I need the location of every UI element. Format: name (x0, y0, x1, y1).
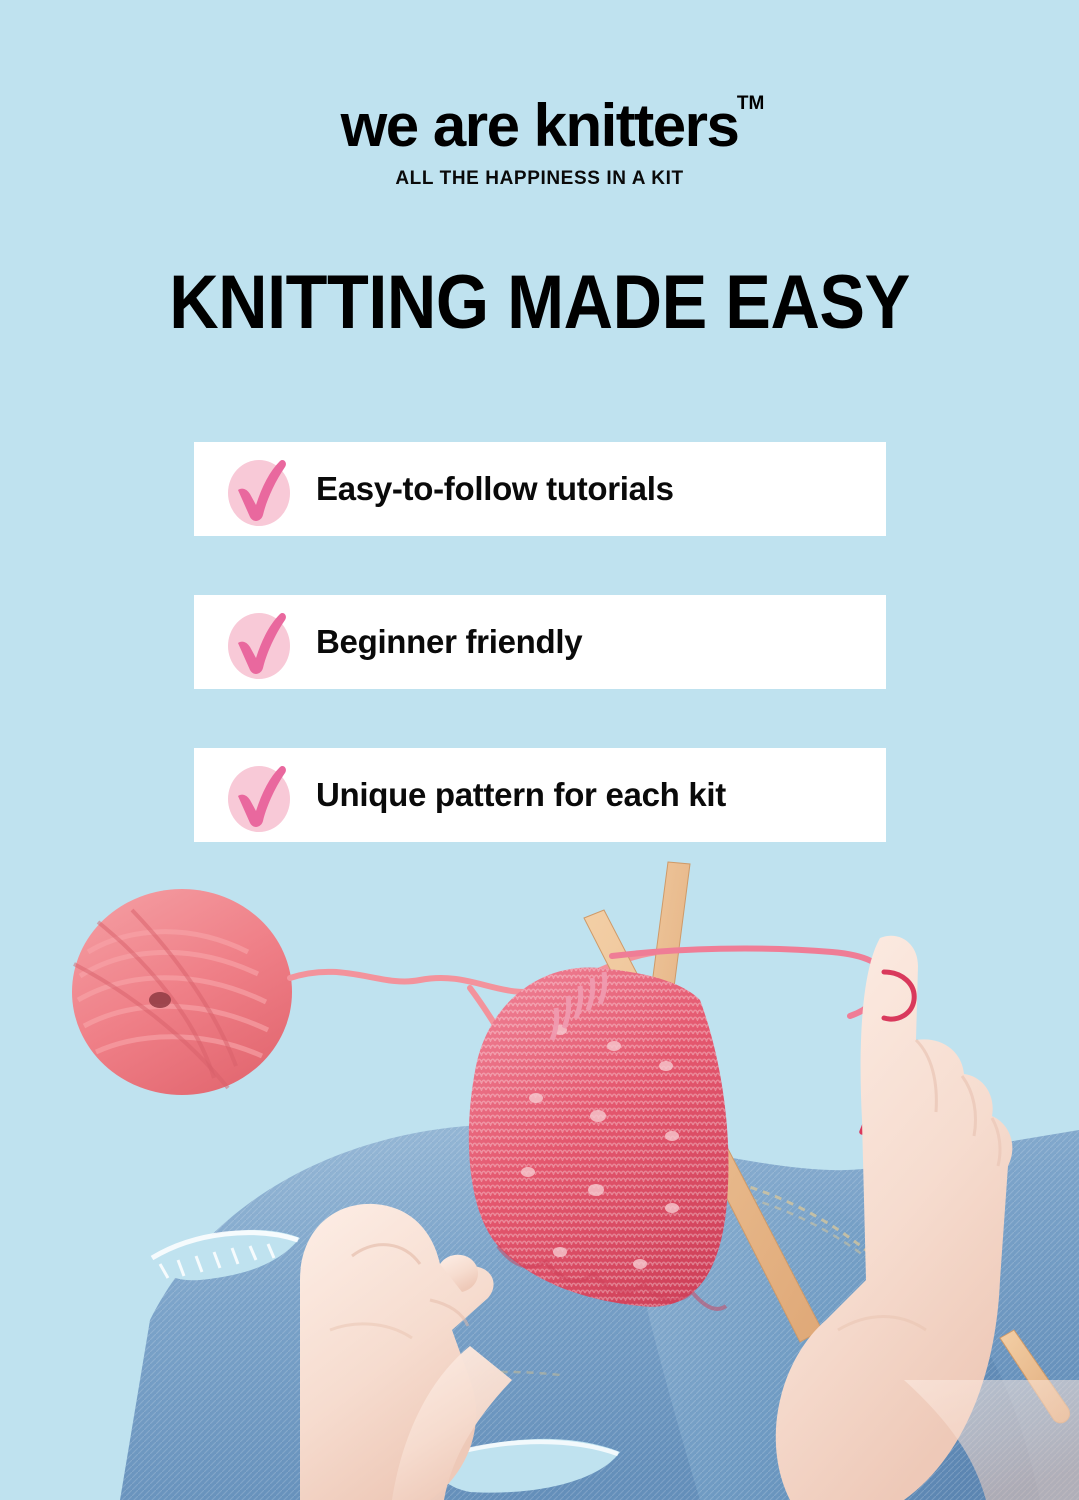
brand-wordmark: we are knittersTM (341, 96, 739, 156)
check-icon-mark (222, 603, 296, 681)
trademark-symbol: TM (737, 94, 764, 113)
poster: we are knittersTM ALL THE HAPPINESS IN A… (0, 0, 1079, 1500)
feature-label: Unique pattern for each kit (316, 776, 726, 814)
feature-card: Beginner friendly (194, 595, 886, 689)
feature-list: Easy-to-follow tutorials Beginner friend… (194, 442, 886, 901)
page-title: KNITTING MADE EASY (54, 265, 1025, 341)
brand-wordmark-text: we are knitters (341, 92, 739, 159)
hero-photo (0, 860, 1079, 1500)
feature-label: Beginner friendly (316, 623, 582, 661)
hero-photo-graphic (0, 860, 1079, 1500)
brand-block: we are knittersTM ALL THE HAPPINESS IN A… (0, 96, 1079, 190)
knitted-swatch (469, 967, 729, 1308)
check-icon-mark (222, 450, 296, 528)
feature-label: Easy-to-follow tutorials (316, 470, 674, 508)
brand-tagline: ALL THE HAPPINESS IN A KIT (0, 168, 1079, 190)
check-icon (222, 603, 296, 681)
check-icon (222, 756, 296, 834)
check-icon (222, 450, 296, 528)
feature-card: Unique pattern for each kit (194, 748, 886, 842)
feature-card: Easy-to-follow tutorials (194, 442, 886, 536)
check-icon-mark (222, 756, 296, 834)
